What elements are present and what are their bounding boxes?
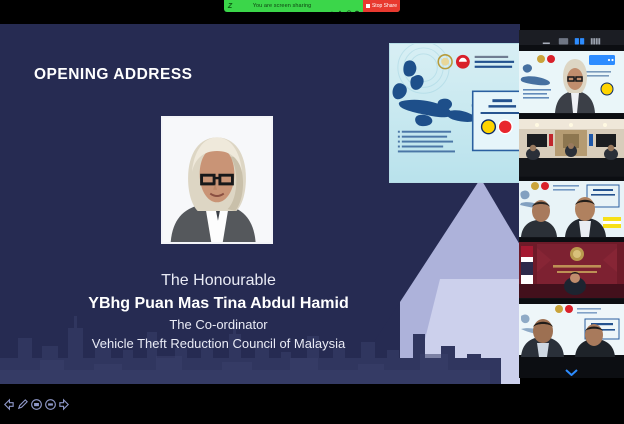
two-officials-video-frame	[519, 177, 624, 237]
speaker-icon[interactable]	[329, 3, 335, 9]
next-slide-arrow-icon[interactable]	[58, 398, 71, 411]
slide-title: OPENING ADDRESS	[34, 66, 193, 84]
zoom-screen-share-window: Z You are screen sharing Stop Share	[0, 0, 624, 424]
view-layout-controls[interactable]	[519, 30, 624, 45]
chevron-down-icon	[565, 369, 578, 376]
speaker-honorific: The Honourable	[0, 270, 437, 292]
grid-view-icon[interactable]	[590, 33, 601, 42]
secondary-slide-thumbnail	[389, 43, 520, 183]
annotation-toolbar[interactable]	[2, 395, 72, 413]
participant-tile-speaker[interactable]	[519, 45, 624, 113]
speaker-organisation: Vehicle Theft Reduction Council of Malay…	[0, 334, 437, 353]
stop-square-icon	[366, 4, 370, 8]
eraser-icon[interactable]	[44, 398, 57, 411]
record-icon[interactable]	[346, 3, 352, 9]
speaker-role: The Co-ordinator	[0, 315, 437, 334]
pen-annotate-icon[interactable]	[16, 398, 29, 411]
speaker-credits-block: The Honourable YBhg Puan Mas Tina Abdul …	[0, 270, 437, 353]
speaker-portrait-frame	[158, 113, 276, 247]
southeast-asia-map-graphic	[390, 44, 519, 182]
screen-share-status-text: You are screen sharing	[236, 3, 326, 9]
share-bar-icon-group	[326, 3, 364, 9]
participant-tile-two-officials[interactable]	[519, 177, 624, 237]
minimize-view-icon[interactable]	[542, 33, 553, 42]
conference-room-video-frame	[519, 114, 624, 176]
participant-tile-conference-room[interactable]	[519, 114, 624, 176]
two-men-video-frame	[519, 299, 624, 366]
speaker-view-icon[interactable]	[558, 33, 569, 42]
scroll-more-participants-button[interactable]	[519, 366, 624, 378]
participant-tile-maroon-backdrop[interactable]	[519, 238, 624, 298]
speaker-portrait-photo	[163, 118, 271, 242]
speaker-name: YBhg Puan Mas Tina Abdul Hamid	[0, 292, 437, 315]
gallery-view-icon[interactable]	[574, 33, 585, 42]
stop-share-button[interactable]: Stop Share	[363, 0, 400, 12]
participant-video-strip	[519, 30, 624, 378]
microphone-icon[interactable]	[337, 3, 343, 9]
screen-share-status-bar: Z You are screen sharing Stop Share	[224, 0, 400, 12]
zoom-logo-icon: Z	[224, 0, 236, 12]
stop-share-label: Stop Share	[372, 3, 397, 9]
participant-tile-two-men[interactable]	[519, 299, 624, 366]
previous-slide-arrow-icon[interactable]	[2, 398, 15, 411]
speaker-video-frame	[519, 45, 624, 113]
security-shield-icon[interactable]	[354, 3, 360, 9]
maroon-backdrop-video-frame	[519, 238, 624, 298]
spotlight-icon[interactable]	[30, 398, 43, 411]
